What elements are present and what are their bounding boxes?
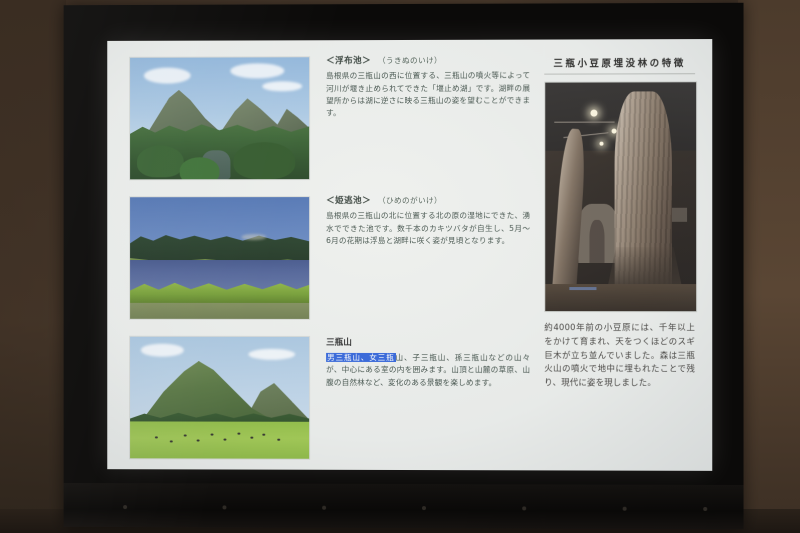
section-body-ukinuno-ike: 島根県の三瓶山の西に位置する、三瓶山の噴火等によって河川が堰き止められてできた「… — [326, 70, 530, 120]
section-title-kana: （うきぬのいけ） — [378, 56, 442, 65]
slide-right-column: 三瓶小豆原埋没林の特徴 約4000年前の小豆原には、千年以上をかけて育まれ、天を… — [544, 55, 695, 463]
section-title-text: ＜浮布池＞ — [326, 56, 371, 66]
section-body-sanbesan: 男三瓶山、女三瓶山、子三瓶山、孫三瓶山などの山々が、中心にある室の内を囲みます。… — [326, 352, 530, 389]
text-block-himenoga-ike: ＜姫逃池＞（ひめのがいけ） 島根県の三瓶山の北に位置する北の原の湿地にできた、湧… — [326, 196, 530, 247]
slide-section-himenoga-ike: ＜姫逃池＞（ひめのがいけ） 島根県の三瓶山の北に位置する北の原の湿地にできた、湧… — [129, 196, 530, 324]
photo-sanbesan-grassland — [129, 336, 310, 460]
photo-himenoga-ike-marsh — [129, 196, 310, 320]
section-title-himenoga-ike: ＜姫逃池＞（ひめのがいけ） — [326, 196, 530, 206]
presentation-slide: ＜浮布池＞（うきぬのいけ） 島根県の三瓶山の西に位置する、三瓶山の噴火等によって… — [107, 39, 712, 471]
slide-section-sanbesan: 三瓶山 男三瓶山、女三瓶山、子三瓶山、孫三瓶山などの山々が、中心にある室の内を囲… — [129, 336, 530, 465]
section-title-ukinuno-ike: ＜浮布池＞（うきぬのいけ） — [326, 56, 530, 67]
right-panel-caption: 約4000年前の小豆原には、千年以上をかけて育まれ、天をつくほどのスギ巨木が立ち… — [544, 321, 695, 390]
screen-frame-bottom-bar — [64, 483, 744, 529]
slide-left-column: ＜浮布池＞（うきぬのいけ） 島根県の三瓶山の西に位置する、三瓶山の噴火等によって… — [129, 56, 530, 463]
wall-panel-right — [738, 0, 800, 533]
text-block-sanbesan: 三瓶山 男三瓶山、女三瓶山、子三瓶山、孫三瓶山などの山々が、中心にある室の内を囲… — [326, 336, 530, 389]
wall-panel-left — [0, 0, 66, 533]
projection-screen-frame: ＜浮布池＞（うきぬのいけ） 島根県の三瓶山の西に位置する、三瓶山の噴火等によって… — [64, 3, 744, 529]
photo-ukinuno-ike-mountains — [129, 56, 310, 180]
section-title-kana: （ひめのがいけ） — [378, 196, 442, 205]
section-title-sanbesan: 三瓶山 — [326, 336, 530, 348]
text-block-ukinuno-ike: ＜浮布池＞（うきぬのいけ） 島根県の三瓶山の西に位置する、三瓶山の噴火等によって… — [326, 56, 530, 120]
right-panel-title: 三瓶小豆原埋没林の特徴 — [544, 55, 695, 74]
slide-section-ukinuno-ike: ＜浮布池＞（うきぬのいけ） 島根県の三瓶山の西に位置する、三瓶山の噴火等によって… — [129, 56, 530, 185]
section-title-text: ＜姫逃池＞ — [326, 196, 371, 206]
selected-text-highlight[interactable]: 男三瓶山、女三瓶 — [326, 353, 395, 362]
section-body-himenoga-ike: 島根県の三瓶山の北に位置する北の原の湿地にできた、湧水でできた池です。数千本のカ… — [326, 210, 530, 247]
photo-buried-forest-trunks — [544, 81, 697, 312]
